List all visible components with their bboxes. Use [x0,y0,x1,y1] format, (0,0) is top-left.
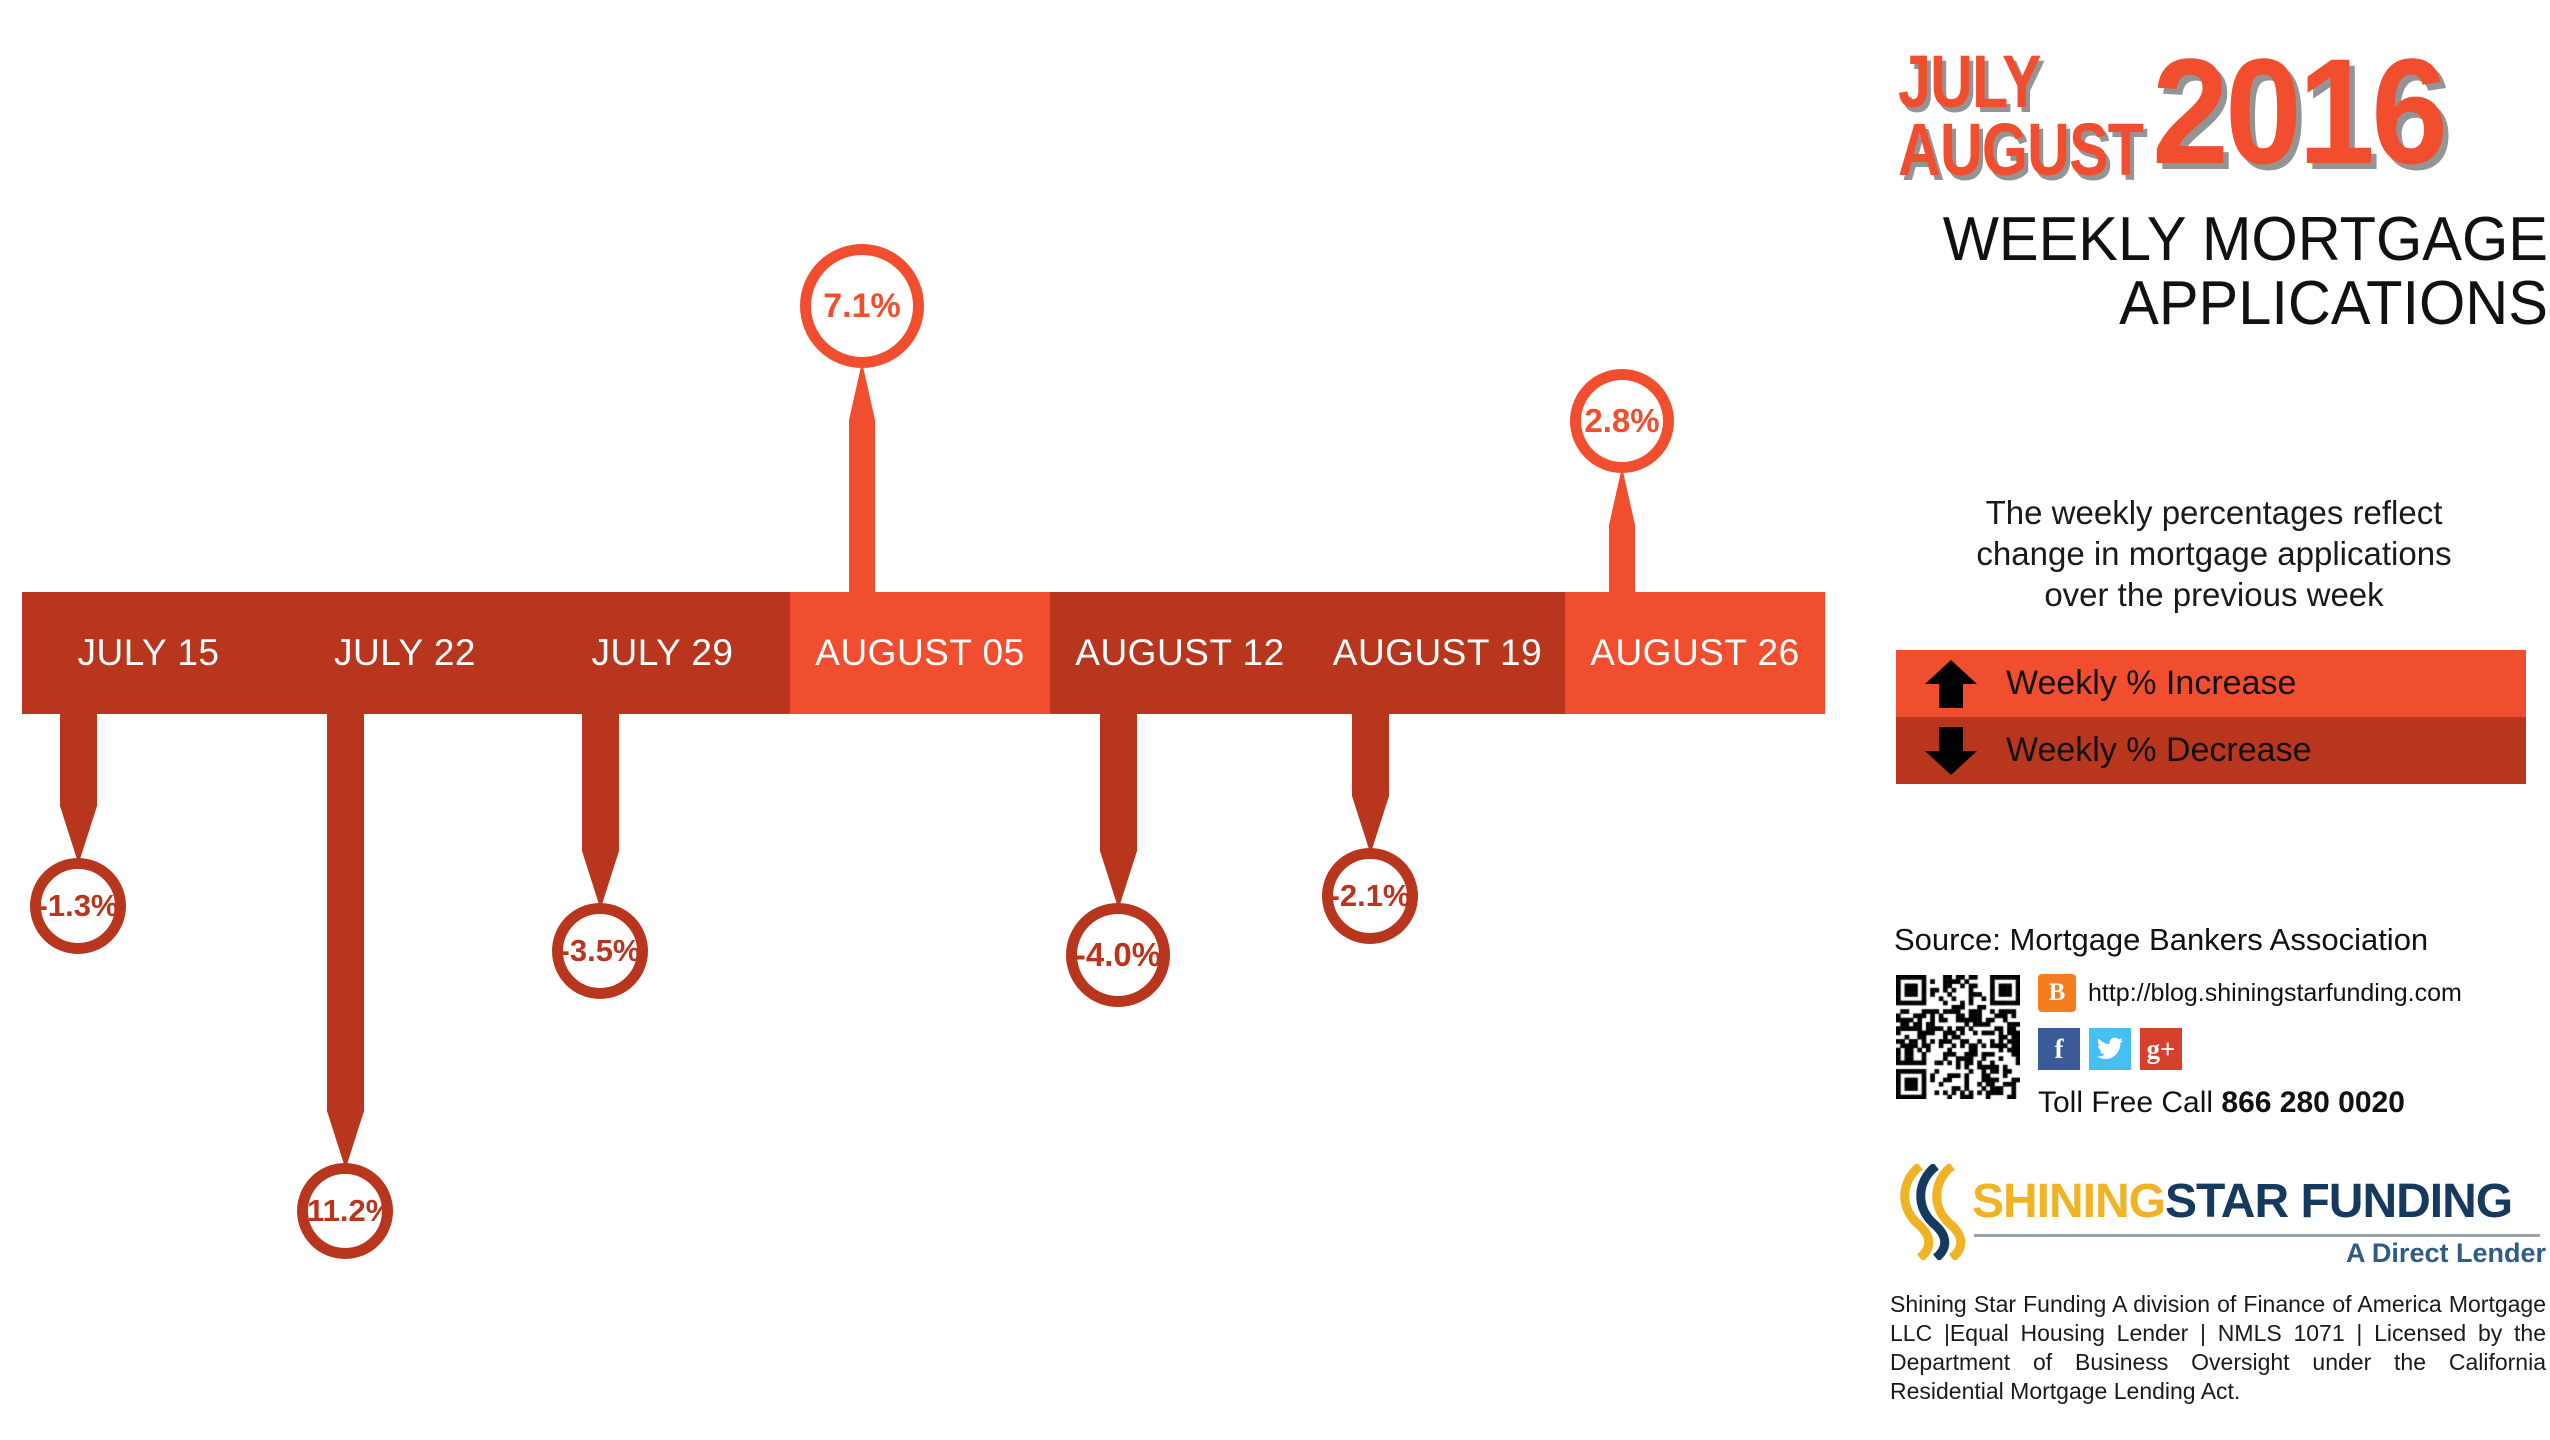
percent-bubble-label: 7.1% [823,287,901,326]
week-bar: JULY 15JULY 22JULY 29AUGUST 05AUGUST 12A… [22,592,1825,714]
logo-word-starfunding: STAR FUNDING [2165,1175,2512,1228]
legend-row-decrease: Weekly % Decrease [1896,717,2526,784]
percent-bubble[interactable]: -3.5% [552,903,648,999]
kicker-month-august: AUGUST [1898,108,2143,191]
legend-label-increase: Weekly % Increase [2006,664,2296,703]
arrow-down-stem [580,714,621,909]
toll-free-number: 866 280 0020 [2221,1086,2405,1119]
company-logo: SHININGSTAR FUNDING A Direct Lender [1894,1160,2546,1268]
week-segment[interactable]: AUGUST 19 [1310,592,1565,714]
percent-bubble[interactable]: -1.3% [30,858,126,954]
logo-tagline: A Direct Lender [2346,1238,2546,1269]
toll-free-label: Toll Free Call [2038,1086,2213,1119]
percent-bubble[interactable]: -2.1% [1322,848,1418,944]
week-segment[interactable]: AUGUST 05 [790,592,1050,714]
facebook-icon[interactable]: f [2038,1028,2080,1070]
arrow-down-icon [1896,725,2006,777]
week-segment[interactable]: JULY 29 [535,592,790,714]
percent-bubble[interactable]: 2.8% [1570,369,1674,473]
legend-row-increase: Weekly % Increase [1896,650,2526,717]
week-segment[interactable]: AUGUST 26 [1565,592,1825,714]
blogger-icon[interactable]: B [2038,974,2076,1012]
date-kicker: JULYAUGUST 2016 [1880,42,2540,222]
arrow-down-stem [325,714,366,1169]
description-line2: change in mortgage applications [1976,535,2451,572]
infographic-canvas: -1.3%-11.2%-3.5%7.1%-4.0%-2.1%2.8% JULY … [0,0,2550,1440]
logo-rule [1974,1234,2540,1237]
percent-bubble-label: -3.5% [560,933,641,969]
arrow-up-stem [847,362,877,592]
week-segment-label: AUGUST 19 [1333,632,1542,674]
blog-link-row[interactable]: B http://blog.shiningstarfunding.com [2038,972,2548,1014]
week-segment-label: AUGUST 26 [1590,632,1799,674]
percent-bubble-label: -2.1% [1330,878,1411,914]
description-text: The weekly percentages reflect change in… [1880,492,2548,615]
week-segment-label: AUGUST 12 [1075,632,1284,674]
percent-bubble[interactable]: -4.0% [1066,903,1170,1007]
source-text: Source: Mortgage Bankers Association [1894,922,2544,958]
arrow-down-stem [1098,714,1139,909]
disclaimer-text: Shining Star Funding A division of Finan… [1890,1290,2546,1406]
kicker-year: 2016 [2152,36,2444,186]
week-segment-label: JULY 15 [78,632,220,674]
twitter-icon[interactable] [2089,1028,2131,1070]
week-segment-label: JULY 22 [334,632,476,674]
social-icons: f g+ [2038,1028,2548,1070]
arrow-down-stem [58,714,99,864]
kicker-months: JULYAUGUST [1898,48,2143,184]
percent-bubble[interactable]: 7.1% [800,244,924,368]
legend-label-decrease: Weekly % Decrease [2006,731,2312,770]
timeline-chart: -1.3%-11.2%-3.5%7.1%-4.0%-2.1%2.8% JULY … [0,0,1860,1440]
page-title: WEEKLY MORTGAGE APPLICATIONS [1880,208,2548,336]
percent-bubble-label: -4.0% [1075,936,1161,974]
arrow-up-icon [1896,658,2006,710]
week-segment-label: AUGUST 05 [815,632,1024,674]
week-segment[interactable]: JULY 15 [22,592,275,714]
page-title-line2: APPLICATIONS [1907,272,2548,336]
description-line1: The weekly percentages reflect [1986,494,2443,531]
percent-bubble[interactable]: -11.2% [297,1163,393,1259]
googleplus-icon[interactable]: g+ [2140,1028,2182,1070]
percent-bubble-label: 2.8% [1584,402,1659,440]
page-title-line1: WEEKLY MORTGAGE [1907,208,2548,272]
legend: Weekly % Increase Weekly % Decrease [1896,650,2526,784]
logo-swoosh-icon [1894,1164,1968,1260]
logo-wordmark: SHININGSTAR FUNDING [1972,1174,2512,1229]
logo-word-shining: SHINING [1972,1175,2165,1228]
description-line3: over the previous week [2044,576,2383,613]
blog-url[interactable]: http://blog.shiningstarfunding.com [2088,979,2462,1008]
qr-code [1896,975,2020,1099]
info-panel: JULYAUGUST 2016 WEEKLY MORTGAGE APPLICAT… [1860,0,2550,1440]
week-segment-label: JULY 29 [592,632,734,674]
arrow-down-stem [1350,714,1391,854]
contact-block: B http://blog.shiningstarfunding.com f g… [2038,972,2548,1120]
toll-free-row: Toll Free Call 866 280 0020 [2038,1086,2548,1120]
arrow-up-stem [1607,467,1637,592]
week-segment[interactable]: AUGUST 12 [1050,592,1310,714]
week-segment[interactable]: JULY 22 [275,592,535,714]
percent-bubble-label: -11.2% [297,1193,394,1229]
percent-bubble-label: -1.3% [38,888,119,924]
